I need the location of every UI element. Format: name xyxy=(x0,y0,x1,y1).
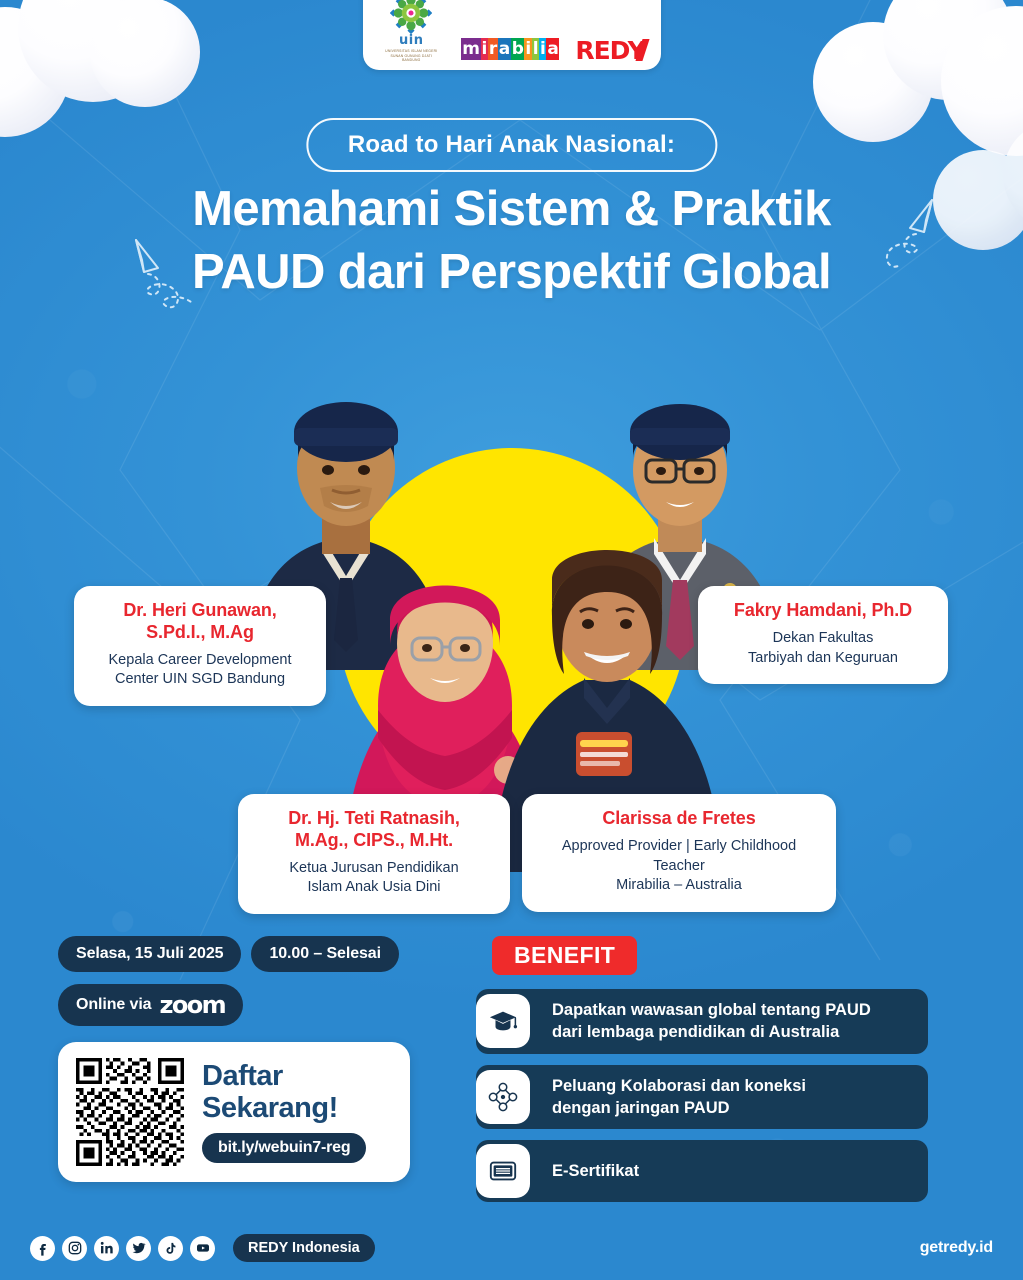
speaker-role-line-2: Mirabilia – Australia xyxy=(616,877,742,893)
instagram-icon[interactable] xyxy=(62,1236,87,1261)
registration-title: Daftar Sekarang! xyxy=(202,1061,392,1124)
youtube-icon[interactable] xyxy=(190,1236,215,1261)
social-handle[interactable]: REDY Indonesia xyxy=(233,1234,375,1262)
zoom-logo-word: zoom xyxy=(159,993,225,1017)
facebook-icon[interactable] xyxy=(30,1236,55,1261)
event-platform-pill: Online via zoom xyxy=(58,984,243,1026)
linkedin-icon[interactable] xyxy=(94,1236,119,1261)
benefit-text: Dapatkan wawasan global tentang PAUD dar… xyxy=(552,999,871,1044)
speaker-name-line-1: Clarissa de Fretes xyxy=(602,808,755,828)
speaker-role-line-1: Ketua Jurusan Pendidikan xyxy=(289,860,458,876)
speaker-card-teti-ratnasih: Dr. Hj. Teti Ratnasih, M.Ag., CIPS., M.H… xyxy=(238,794,510,914)
speaker-role: Dekan Fakultas Tarbiyah dan Keguruan xyxy=(714,629,932,668)
registration-text: Daftar Sekarang! bit.ly/webuin7-reg xyxy=(202,1061,392,1163)
speaker-name: Fakry Hamdani, Ph.D xyxy=(714,600,932,622)
speaker-role-line-1: Dekan Fakultas xyxy=(773,630,874,646)
event-datetime-row: Selasa, 15 Juli 2025 10.00 – Selesai xyxy=(58,936,410,972)
benefit-line-1: E-Sertifikat xyxy=(552,1162,639,1180)
speaker-name-line-1: Dr. Hj. Teti Ratnasih, xyxy=(288,808,460,828)
benefit-item-global-insight: Dapatkan wawasan global tentang PAUD dar… xyxy=(476,989,928,1054)
certificate-icon xyxy=(476,1144,530,1198)
speaker-name-line-2: S.Pd.I., M.Ag xyxy=(146,622,254,642)
speaker-role-line-2: Islam Anak Usia Dini xyxy=(308,879,441,895)
benefits-panel: BENEFIT Dapatkan wawasan global tentang … xyxy=(476,936,928,1213)
registration-card[interactable]: Daftar Sekarang! bit.ly/webuin7-reg xyxy=(58,1042,410,1182)
network-nodes-icon xyxy=(476,1070,530,1124)
website-url[interactable]: getredy.id xyxy=(920,1239,993,1257)
speaker-role-line-1: Approved Provider | Early Childhood Teac… xyxy=(562,838,796,874)
speaker-role-line-1: Kepala Career Development xyxy=(109,652,292,668)
registration-title-line-2: Sekarang! xyxy=(202,1092,338,1124)
social-links: REDY Indonesia xyxy=(30,1234,375,1262)
speaker-role: Kepala Career Development Center UIN SGD… xyxy=(90,651,310,690)
speaker-card-heri-gunawan: Dr. Heri Gunawan, S.Pd.I., M.Ag Kepala C… xyxy=(74,586,326,706)
event-info-panel: Selasa, 15 Juli 2025 10.00 – Selesai Onl… xyxy=(58,936,410,1182)
benefit-badge: BENEFIT xyxy=(492,936,637,975)
event-platform-prefix: Online via xyxy=(76,996,151,1014)
speaker-name: Clarissa de Fretes xyxy=(538,808,820,830)
event-time-pill: 10.00 – Selesai xyxy=(251,936,399,972)
qr-code[interactable] xyxy=(76,1058,184,1166)
speaker-role: Approved Provider | Early Childhood Teac… xyxy=(538,837,820,896)
speaker-name-line-1: Fakry Hamdani, Ph.D xyxy=(734,600,912,620)
tiktok-icon[interactable] xyxy=(158,1236,183,1261)
speaker-role-line-2: Center UIN SGD Bandung xyxy=(115,671,285,687)
twitter-icon[interactable] xyxy=(126,1236,151,1261)
footer: REDY Indonesia getredy.id xyxy=(0,1216,1023,1280)
speaker-name: Dr. Heri Gunawan, S.Pd.I., M.Ag xyxy=(90,600,310,644)
benefit-line-1: Peluang Kolaborasi dan koneksi xyxy=(552,1077,806,1095)
benefit-line-2: dengan jaringan PAUD xyxy=(552,1099,730,1117)
speaker-name-line-2: M.Ag., CIPS., M.Ht. xyxy=(295,830,453,850)
speaker-role: Ketua Jurusan Pendidikan Islam Anak Usia… xyxy=(254,859,494,898)
registration-link[interactable]: bit.ly/webuin7-reg xyxy=(202,1133,366,1163)
speaker-card-clarissa-de-fretes: Clarissa de Fretes Approved Provider | E… xyxy=(522,794,836,912)
benefit-text: E-Sertifikat xyxy=(552,1160,639,1182)
speaker-role-line-2: Tarbiyah dan Keguruan xyxy=(748,650,898,666)
benefit-line-2: dari lembaga pendidikan di Australia xyxy=(552,1023,839,1041)
benefit-line-1: Dapatkan wawasan global tentang PAUD xyxy=(552,1001,871,1019)
benefit-text: Peluang Kolaborasi dan koneksi dengan ja… xyxy=(552,1075,806,1120)
graduation-cap-icon xyxy=(476,994,530,1048)
registration-title-line-1: Daftar xyxy=(202,1060,283,1092)
speaker-card-fakry-hamdani: Fakry Hamdani, Ph.D Dekan Fakultas Tarbi… xyxy=(698,586,948,684)
speaker-name-line-1: Dr. Heri Gunawan, xyxy=(123,600,276,620)
webinar-poster: uin UNIVERSITAS ISLAM NEGERI SUNAN GUNUN… xyxy=(0,0,1023,1280)
benefit-item-collaboration: Peluang Kolaborasi dan koneksi dengan ja… xyxy=(476,1065,928,1130)
event-date-pill: Selasa, 15 Juli 2025 xyxy=(58,936,241,972)
speaker-name: Dr. Hj. Teti Ratnasih, M.Ag., CIPS., M.H… xyxy=(254,808,494,852)
benefit-item-certificate: E-Sertifikat xyxy=(476,1140,928,1202)
